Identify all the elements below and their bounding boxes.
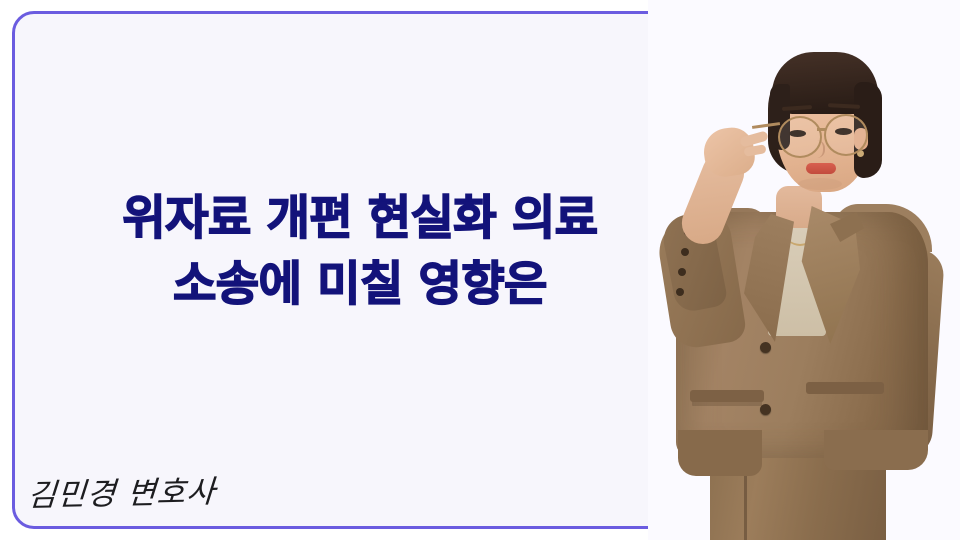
cuff-button (681, 248, 689, 256)
glasses-bridge (817, 128, 826, 131)
glasses-lens-left (778, 116, 822, 158)
byline-name: 김민경 변호사 (26, 466, 217, 515)
cuff-button (676, 288, 684, 296)
thumbnail-card: 위자료 개편 현실화 의료 소송에 미칠 영향은 김민경 변호사 (0, 0, 960, 540)
cuff-button (678, 268, 686, 276)
glasses-lens-right (824, 114, 868, 156)
jacket-button-lower (760, 404, 771, 415)
chin-shading (798, 178, 842, 190)
jacket-button-upper (760, 342, 771, 353)
jacket-pocket-left (690, 390, 764, 402)
lips (806, 163, 836, 174)
jacket-hem-left (678, 430, 762, 476)
jacket-pocket-right (806, 382, 884, 394)
person-photo (648, 0, 960, 540)
jacket-hem-right (824, 430, 928, 470)
